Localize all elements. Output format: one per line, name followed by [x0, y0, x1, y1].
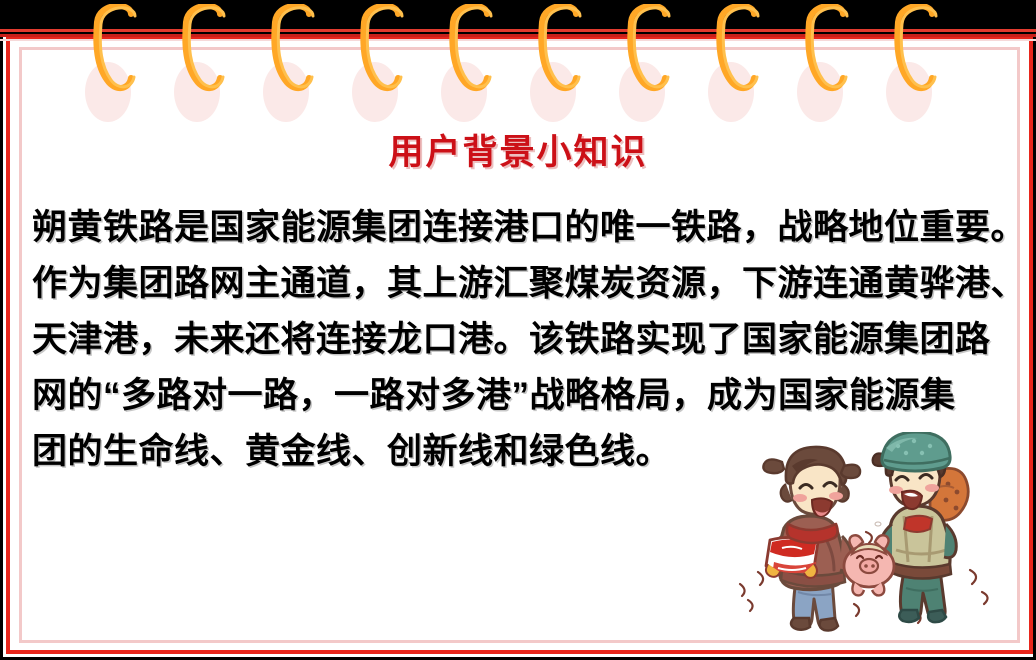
body-line: 网的“多路对一路，一路对多港”战略格局，成为国家能源集 — [32, 368, 1022, 424]
notebook-card: 用户背景小知识 朔黄铁路是国家能源集团连接港口的唯一铁路，战略地位重要。 作为集… — [0, 0, 1036, 660]
pig-figure — [844, 535, 894, 595]
top-rule-pink — [0, 39, 1036, 41]
body-line: 朔黄铁路是国家能源集团连接港口的唯一铁路，战略地位重要。 — [32, 200, 1022, 256]
child-right-figure — [873, 432, 969, 622]
body-line: 作为集团路网主通道，其上游汇聚煤炭资源，下游连通黄骅港、 — [32, 256, 1022, 312]
page-title: 用户背景小知识 — [0, 124, 1036, 175]
child-left-figure — [763, 447, 860, 631]
top-rule-red-outer — [0, 29, 1036, 32]
children-with-pig-illustration — [726, 432, 1026, 632]
body-line: 天津港，未来还将连接龙口港。该铁路实现了国家能源集团路 — [32, 312, 1022, 368]
top-rule-red-inner — [0, 34, 1036, 37]
